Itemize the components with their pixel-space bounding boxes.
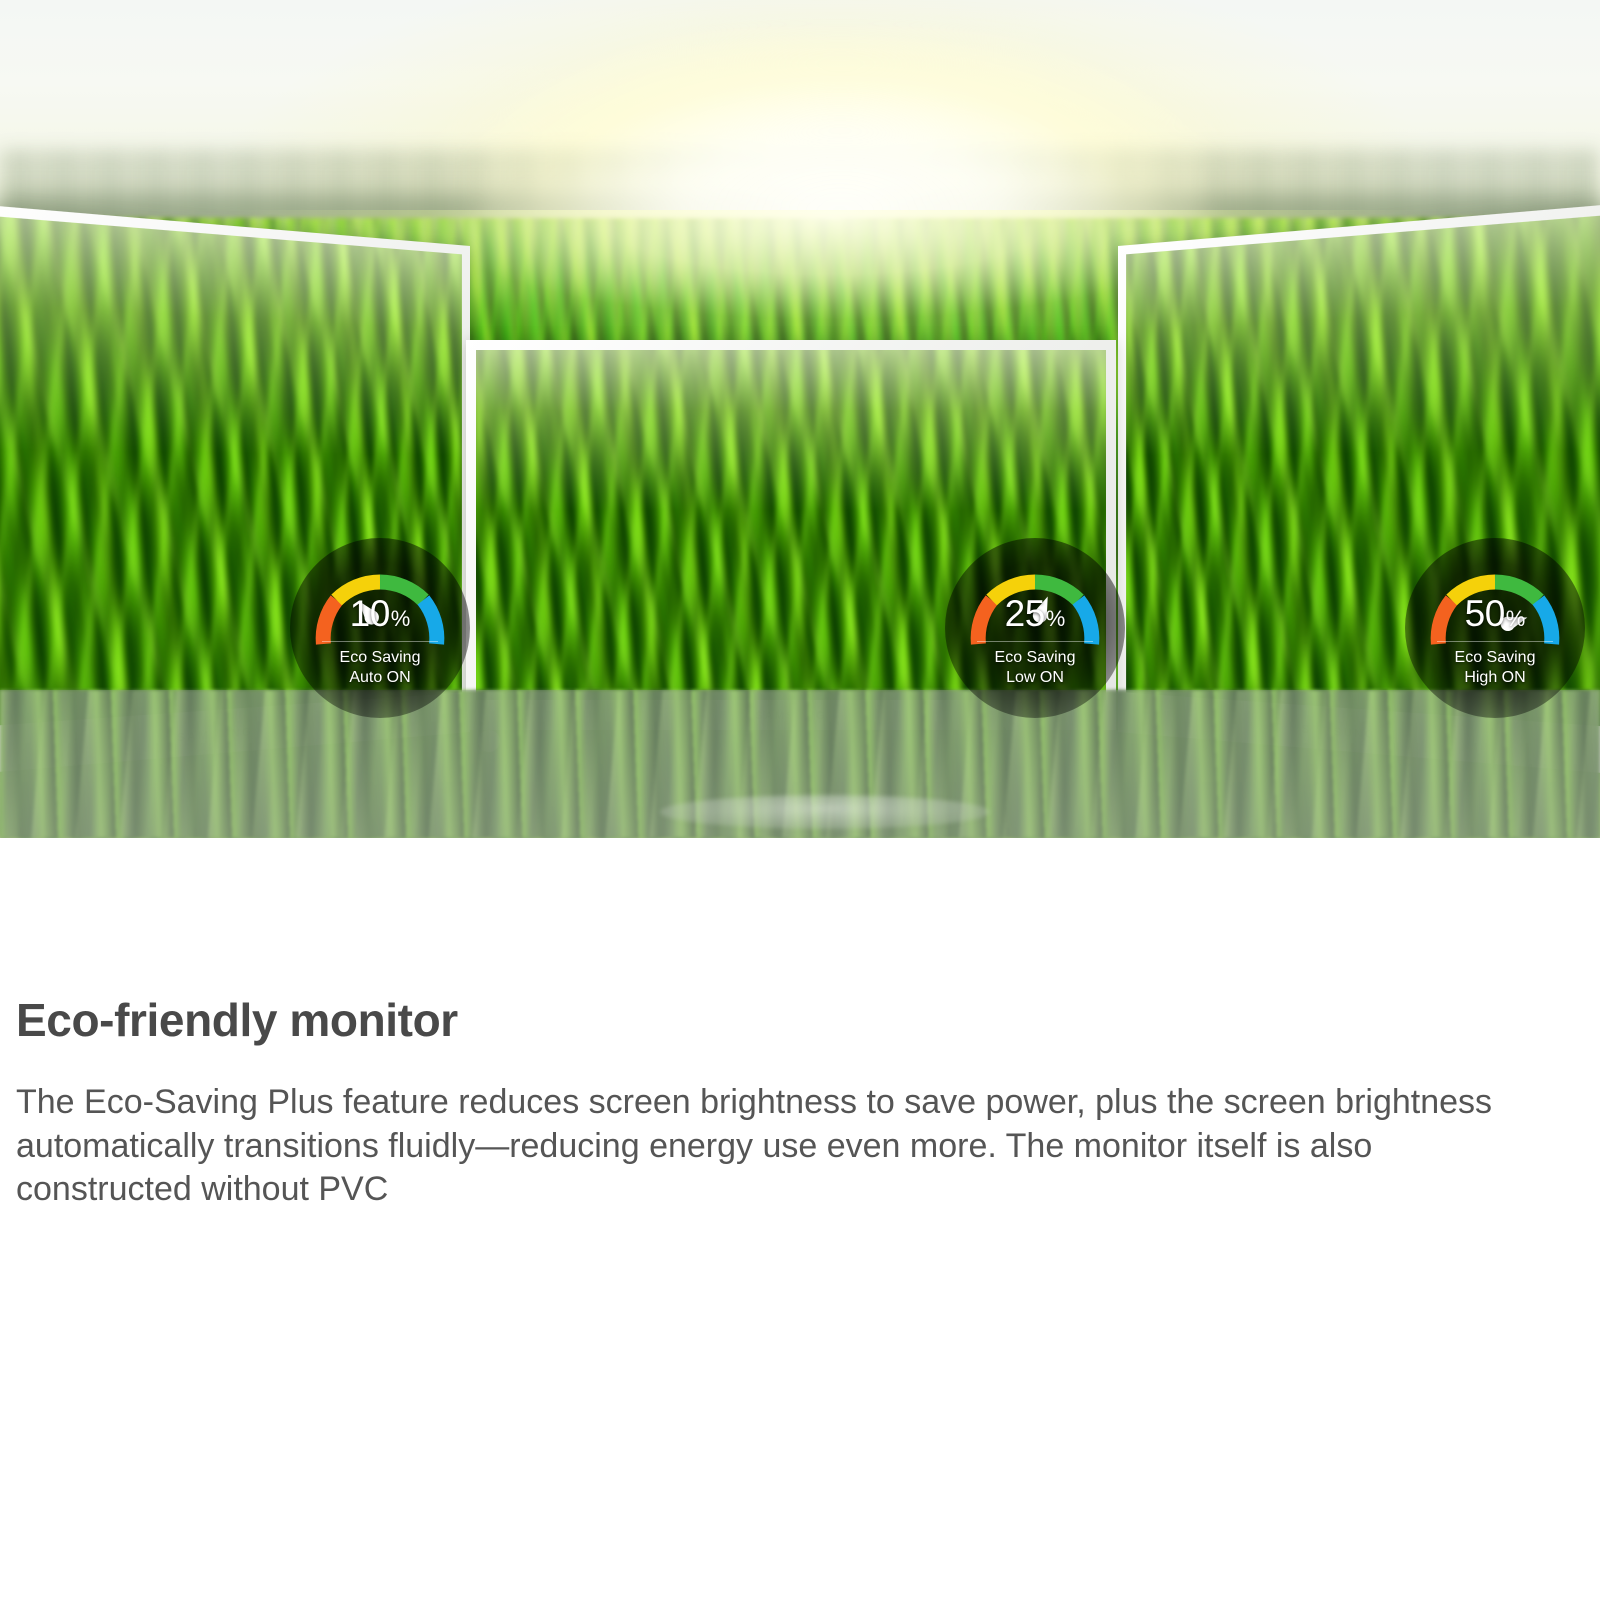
gauge-feature-label: Eco Saving (1455, 649, 1536, 666)
description-paragraph: The Eco-Saving Plus feature reduces scre… (16, 1081, 1536, 1212)
monitor-stand-base (660, 795, 990, 829)
gauge-state-label: Low ON (955, 668, 1115, 688)
gauge-divider (1437, 641, 1553, 642)
gauge-percent-readout: 25% (955, 595, 1115, 632)
gauge-label-block: Eco Saving Auto ON (300, 648, 460, 689)
gauge-percent-value: 25 (1005, 593, 1045, 634)
eco-saving-gauge-auto: 10% Eco Saving Auto ON (300, 548, 460, 708)
gauge-percent-value: 10 (350, 593, 390, 634)
description-section: Eco-friendly monitor The Eco-Saving Plus… (0, 838, 1600, 1600)
gauge-label-block: Eco Saving High ON (1415, 648, 1575, 689)
gauge-percent-readout: 10% (300, 595, 460, 632)
gauge-divider (977, 641, 1093, 642)
gauge-label-block: Eco Saving Low ON (955, 648, 1115, 689)
page-title: Eco-friendly monitor (16, 993, 1584, 1047)
gauge-state-label: High ON (1415, 668, 1575, 688)
gauge-percent-readout: 50% (1415, 595, 1575, 632)
gauge-state-label: Auto ON (300, 668, 460, 688)
gauge-divider (322, 641, 438, 642)
eco-saving-gauge-low: 25% Eco Saving Low ON (955, 548, 1115, 708)
gauge-percent-value: 50 (1465, 593, 1505, 634)
eco-saving-gauge-high: 50% Eco Saving High ON (1415, 548, 1575, 708)
gauge-percent-symbol: % (1046, 606, 1066, 631)
gauge-percent-symbol: % (1506, 606, 1526, 631)
gauge-percent-symbol: % (391, 606, 411, 631)
gauge-feature-label: Eco Saving (995, 649, 1076, 666)
hero-image: SAMSUNG SAMSUNG SAMSUNG (0, 0, 1600, 838)
gauge-feature-label: Eco Saving (340, 649, 421, 666)
